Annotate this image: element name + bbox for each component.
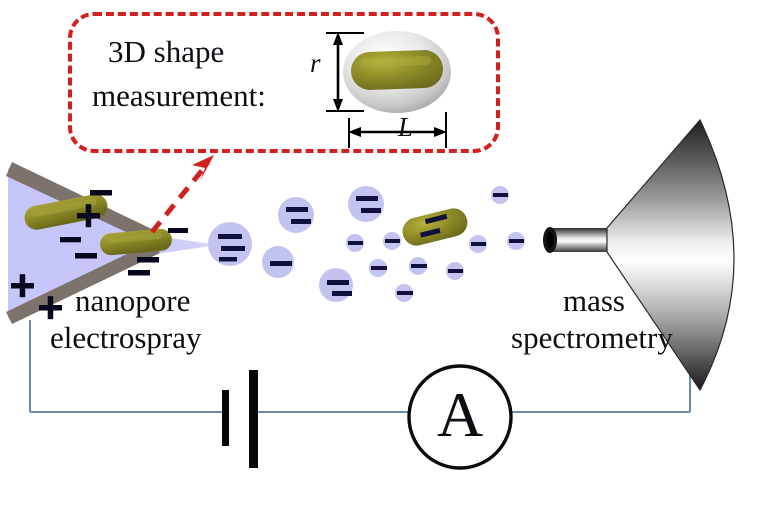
dimension-label-r: r (310, 50, 321, 77)
droplet-plume (208, 186, 525, 302)
capillary-bore (547, 232, 554, 248)
inset-title-line2: measurement: (92, 80, 266, 111)
charge-minus-5 (137, 257, 159, 263)
dimension-label-L: L (398, 114, 413, 141)
source-label-line1: nanopore (75, 285, 190, 316)
droplet-small-6 (446, 262, 464, 280)
battery-symbol (222, 370, 258, 468)
callout-arrow (152, 155, 214, 232)
droplet-small-2 (383, 232, 401, 250)
droplet-small-5 (395, 284, 413, 302)
detector-label-line1: mass (563, 285, 625, 316)
droplet-medium-1 (278, 197, 314, 233)
droplet-small-3 (369, 259, 387, 277)
droplet-medium-3 (319, 268, 353, 302)
droplet-small-4 (409, 257, 427, 275)
battery-plate-short (222, 390, 229, 446)
figure-canvas: 3D shape measurement: r L nanopore elect… (0, 0, 780, 517)
droplet-small-9 (491, 186, 509, 204)
battery-plate-long (249, 370, 258, 468)
droplet-small-1 (346, 234, 364, 252)
charge-minus-4 (128, 270, 150, 276)
source-label-line2: electrospray (50, 322, 201, 353)
droplet-medium-4 (348, 186, 384, 222)
inlet-capillary (548, 228, 614, 252)
charge-minus-1 (90, 190, 112, 196)
inset-title-line1: 3D shape (108, 36, 224, 67)
droplet-medium-2 (262, 246, 294, 278)
charge-minus-2 (168, 228, 188, 233)
droplet-large-1 (208, 222, 252, 266)
droplet-small-8 (507, 232, 525, 250)
bacterium-in-plume (400, 205, 471, 248)
charge-minus-6 (60, 237, 81, 242)
charge-minus-3 (75, 253, 97, 259)
detector-label-line2: spectrometry (511, 322, 673, 353)
ammeter-label: A (437, 383, 483, 447)
droplet-small-7 (469, 235, 487, 253)
